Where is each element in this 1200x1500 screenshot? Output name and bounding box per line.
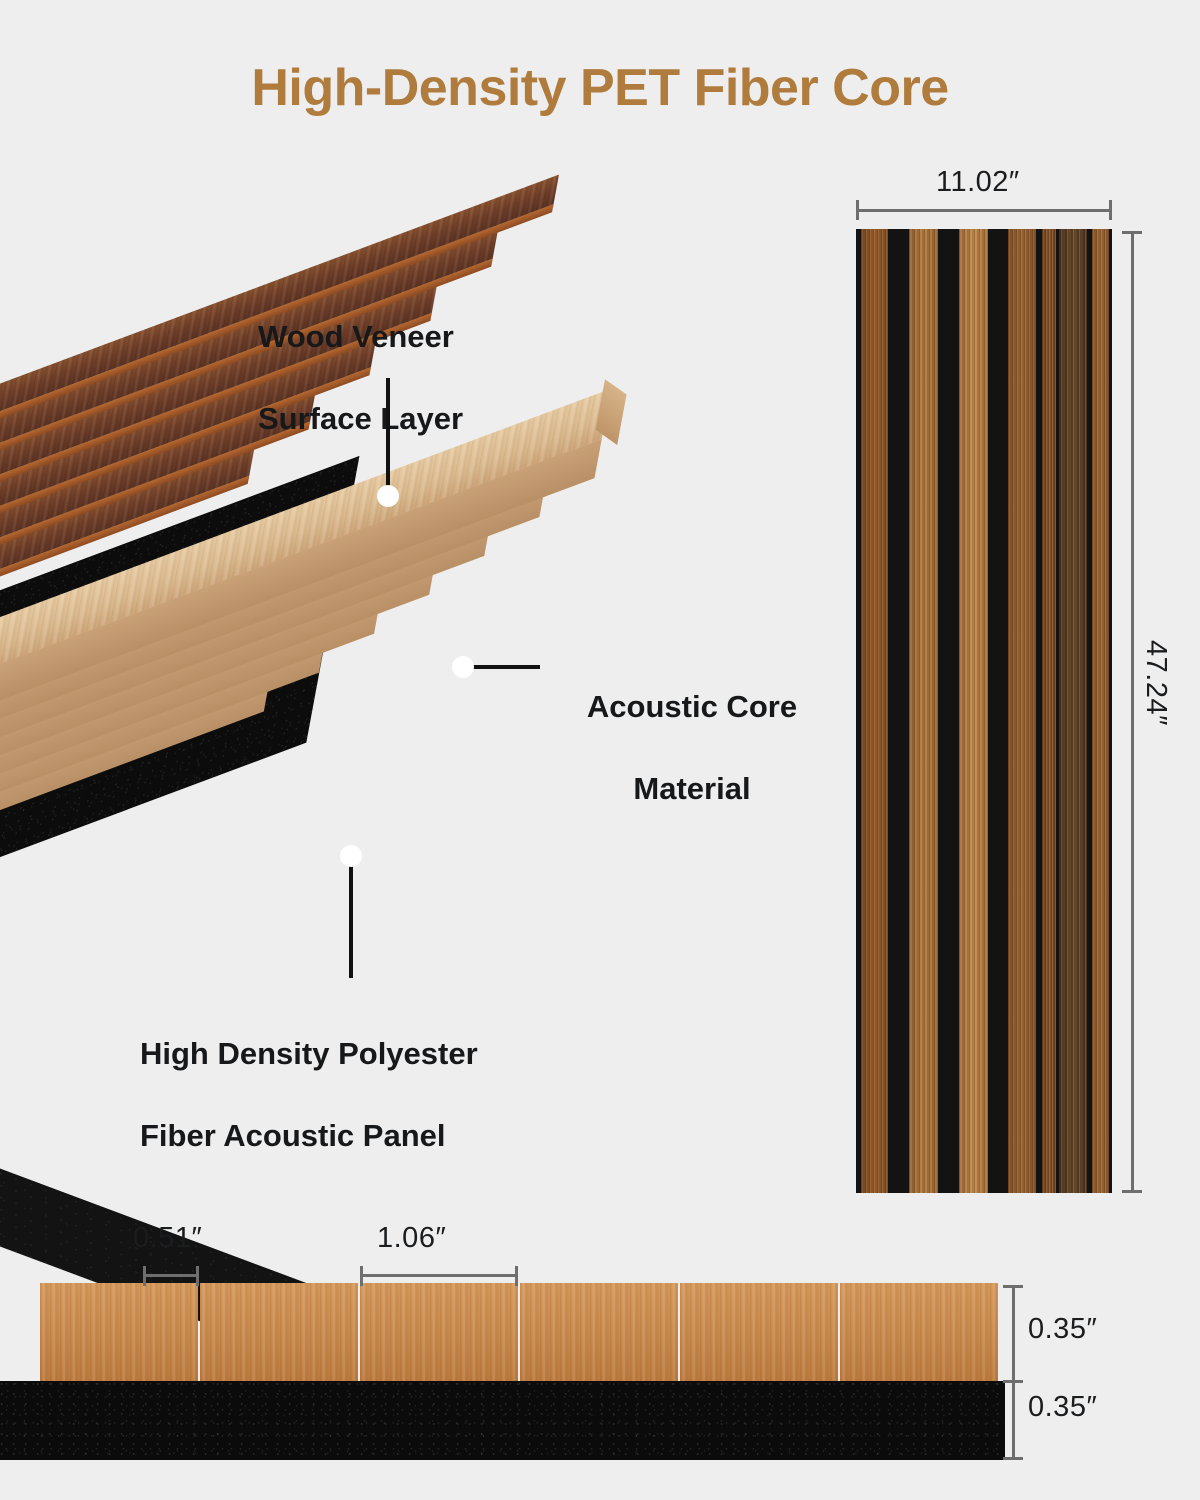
callout-dot-pet-panel bbox=[340, 845, 362, 867]
dimension-cap-right bbox=[1109, 200, 1112, 220]
dimension-cap-bottom bbox=[1122, 1190, 1142, 1193]
callout-label-line-1: Wood Veneer bbox=[258, 317, 558, 358]
panel-slat bbox=[861, 229, 888, 1193]
slat-panel-product-image bbox=[856, 229, 1112, 1193]
callout-dot-acoustic-core bbox=[452, 656, 474, 678]
dimension-label-slat-width: 1.06″ bbox=[377, 1222, 446, 1255]
dimension-cap-left bbox=[360, 1266, 363, 1286]
dimension-cap-right bbox=[196, 1266, 199, 1286]
page-title: High-Density PET Fiber Core bbox=[0, 58, 1200, 118]
leader-line-pet-panel bbox=[349, 862, 353, 978]
callout-label-acoustic-core: Acoustic Core Material bbox=[552, 646, 832, 851]
dimension-line-panel-width bbox=[856, 209, 1112, 212]
dimension-label-panel-height: 47.24″ bbox=[1139, 640, 1172, 726]
dimension-cap-left bbox=[856, 200, 859, 220]
callout-label-line-2: Surface Layer bbox=[258, 399, 558, 440]
dimension-cap-right bbox=[515, 1266, 518, 1286]
leader-line-acoustic-core bbox=[470, 665, 540, 669]
panel-slat bbox=[1008, 229, 1036, 1193]
dimension-cap-left bbox=[143, 1266, 146, 1286]
cross-section-slat bbox=[200, 1283, 358, 1381]
cross-section-slat bbox=[520, 1283, 678, 1381]
panel-slat bbox=[909, 229, 938, 1193]
panel-slat bbox=[959, 229, 988, 1193]
leader-line-wood-veneer bbox=[386, 378, 390, 494]
dimension-cap-middle bbox=[1003, 1380, 1023, 1383]
dimension-line-slat-width bbox=[360, 1274, 518, 1277]
panel-slat bbox=[1092, 229, 1109, 1193]
dimension-label-slat-thickness: 0.35″ bbox=[1028, 1313, 1097, 1346]
callout-label-pet-panel: High Density Polyester Fiber Acoustic Pa… bbox=[140, 993, 580, 1198]
dimension-label-panel-width: 11.02″ bbox=[936, 166, 1020, 199]
callout-label-line-1: Acoustic Core bbox=[552, 687, 832, 728]
cross-section-slat bbox=[360, 1283, 518, 1381]
panel-slat bbox=[1059, 229, 1087, 1193]
dimension-label-felt-thickness: 0.35″ bbox=[1028, 1391, 1097, 1424]
cross-section-slat bbox=[40, 1283, 198, 1381]
cross-section-slat bbox=[680, 1283, 838, 1381]
callout-label-wood-veneer: Wood Veneer Surface Layer bbox=[258, 276, 558, 481]
dimension-cap-top bbox=[1003, 1285, 1023, 1288]
callout-label-line-2: Fiber Acoustic Panel bbox=[140, 1116, 580, 1157]
callout-label-line-2: Material bbox=[552, 769, 832, 810]
dimension-line-slat-thickness bbox=[1012, 1285, 1015, 1381]
cross-section-illustration bbox=[0, 1283, 1010, 1460]
panel-slat bbox=[1042, 229, 1056, 1193]
cross-section-slat bbox=[840, 1283, 998, 1381]
dimension-cap-bottom bbox=[1003, 1457, 1023, 1460]
cross-section-felt-base bbox=[0, 1381, 1005, 1460]
dimension-line-slat-gap bbox=[143, 1274, 199, 1277]
dimension-line-panel-height bbox=[1131, 231, 1134, 1193]
dimension-line-felt-thickness bbox=[1012, 1381, 1015, 1460]
dimension-label-slat-gap: 0.51″ bbox=[133, 1222, 202, 1255]
dimension-cap-top bbox=[1122, 231, 1142, 234]
callout-dot-wood-veneer bbox=[377, 485, 399, 507]
callout-label-line-1: High Density Polyester bbox=[140, 1034, 580, 1075]
